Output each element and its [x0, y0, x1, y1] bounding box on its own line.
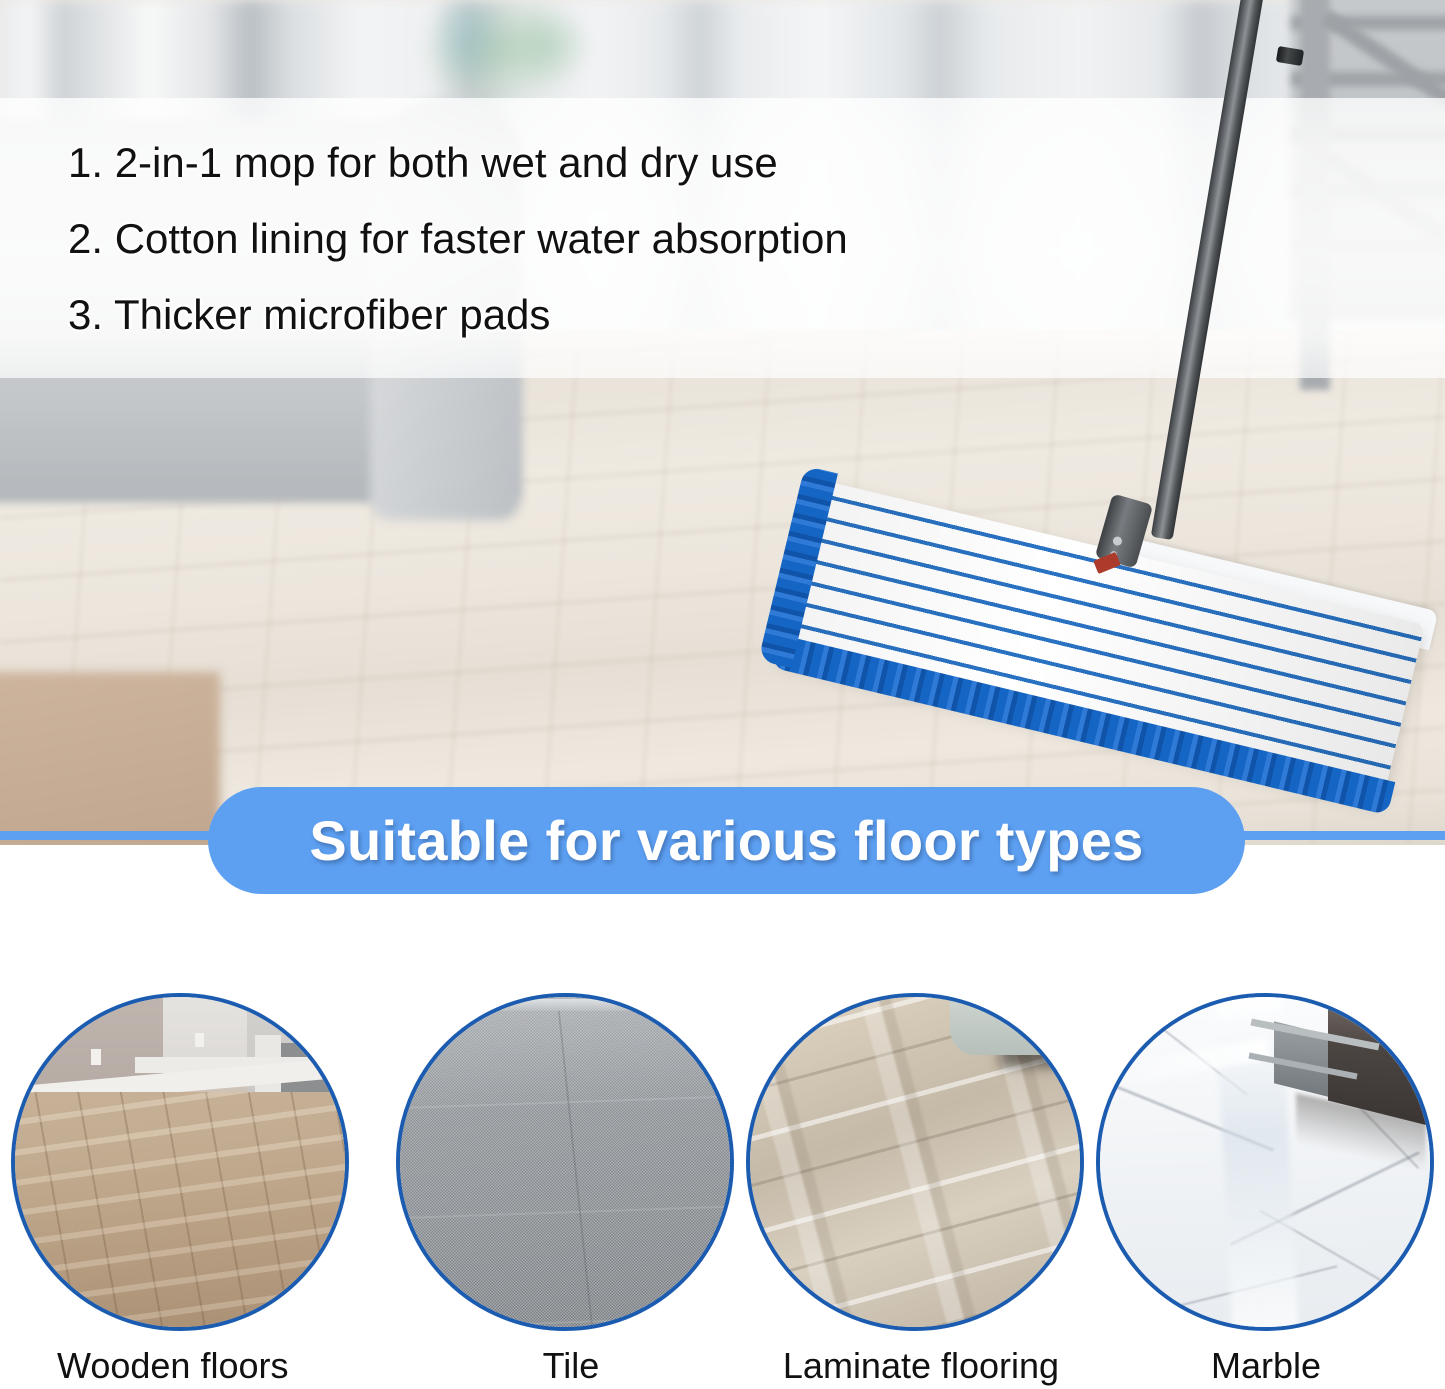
wooden-wall-outlet-left: [91, 1049, 101, 1065]
laminate-furniture-leg: [950, 993, 1080, 1055]
background-sofa-seat: [0, 380, 380, 500]
floor-types-section: Wooden floors Tile Laminate flooring: [0, 900, 1445, 1389]
floor-type-label-laminate: Laminate flooring: [746, 1345, 1096, 1387]
marble-floor-surface: [1100, 997, 1430, 1327]
floor-type-label-marble: Marble: [1096, 1345, 1445, 1387]
wooden-room-scene: [15, 997, 345, 1327]
floor-type-image-laminate: [746, 993, 1084, 1331]
tile-texture-grain: [400, 997, 730, 1327]
hero-product-photo: 1. 2-in-1 mop for both wet and dry use 2…: [0, 0, 1445, 845]
floor-type-label-wooden: Wooden floors: [11, 1345, 361, 1387]
feature-list: 1. 2-in-1 mop for both wet and dry use 2…: [68, 125, 1068, 353]
feature-item-3: 3. Thicker microfiber pads: [68, 277, 1068, 353]
banner-pill: Suitable for various floor types: [208, 787, 1245, 894]
background-rug: [0, 672, 220, 845]
feature-item-1: 1. 2-in-1 mop for both wet and dry use: [68, 125, 1068, 201]
floor-type-label-tile: Tile: [396, 1345, 746, 1387]
floor-type-card-laminate: Laminate flooring: [746, 993, 1096, 1387]
wooden-floor-planks: [11, 1092, 349, 1331]
floor-type-image-marble: [1096, 993, 1434, 1331]
floor-type-card-marble: Marble: [1096, 993, 1445, 1387]
floor-type-card-wooden: Wooden floors: [11, 993, 361, 1387]
banner-title: Suitable for various floor types: [309, 808, 1143, 873]
floor-type-image-tile: [396, 993, 734, 1331]
floor-type-card-tile: Tile: [396, 993, 746, 1387]
wooden-wall-outlet-right: [195, 1033, 204, 1047]
feature-item-2: 2. Cotton lining for faster water absorp…: [68, 201, 1068, 277]
floor-type-image-wooden: [11, 993, 349, 1331]
